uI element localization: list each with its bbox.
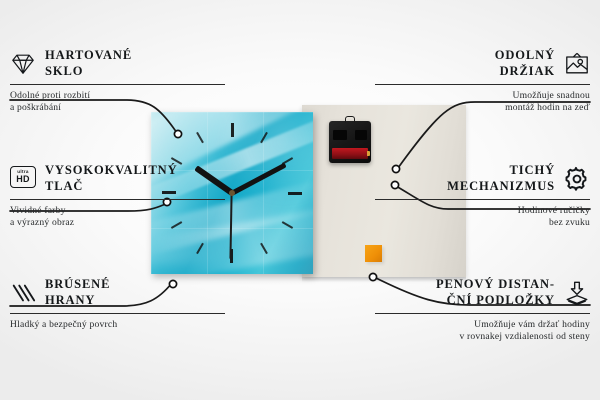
feature-title-brusene-hrany: BRÚSENÉHRANY [45,277,110,309]
feature-desc-hartovane-sklo: Odolné proti rozbitía poškrábání [10,90,225,116]
diamond-icon [10,51,36,77]
mechanism-slot-right [355,130,367,140]
feature-divider-brusene-hrany [10,313,225,314]
picture-hanger-icon [564,51,590,77]
feature-hartovane-sklo: HARTOVANÉSKLO Odolné proti rozbitía pošk… [10,48,225,115]
feature-divider-vysokokvalitny-tlac [10,199,225,200]
clock-tick-3 [232,192,302,194]
feature-heading-tichy-mechanizmus: TICHÝMECHANIZMUS [375,163,590,195]
feature-heading-hartovane-sklo: HARTOVANÉSKLO [10,48,225,80]
feature-desc-vysokokvalitny-tlac: Vividné farbya výrazný obraz [10,205,225,231]
feature-title-hartovane-sklo: HARTOVANÉSKLO [45,48,132,80]
feature-divider-tichy-mechanizmus [375,199,590,200]
feature-odolny-drziak: ODOLNÝDRŽIAK Umožňuje snadnoumontáž hodi… [375,48,590,115]
feature-title-vysokokvalitny-tlac: VYSOKOKVALITNÝTLAČ [45,163,178,195]
feature-desc-odolny-drziak: Umožňuje snadnoumontáž hodin na zeď [375,90,590,116]
clock-center-cap [229,190,235,196]
feature-divider-hartovane-sklo [10,84,225,85]
feature-title-odolny-drziak: ODOLNÝDRŽIAK [495,48,555,80]
mechanism-slot-left [333,130,347,140]
feature-heading-penove-podlozky: PENOVÝ DISTAN-ČNÍ PODLOŽKY [375,277,590,309]
feature-tichy-mechanizmus: TICHÝMECHANIZMUS Hodinové ručičkybez zvu… [375,163,590,230]
ultra-hd-icon-hd-text: HD [16,175,29,184]
feature-desc-brusene-hrany: Hladký a bezpečný povrch [10,319,225,332]
mechanism-hanger-shaft [345,116,355,123]
foam-spacer-pad [365,245,382,262]
spacer-stack-icon [564,280,590,306]
aa-battery [332,148,368,159]
infographic-canvas: HARTOVANÉSKLO Odolné proti rozbitía pošk… [0,0,600,400]
feature-heading-odolny-drziak: ODOLNÝDRŽIAK [375,48,590,80]
ultra-hd-icon: ultra HD [10,166,36,192]
clock-tick-12 [231,123,233,193]
feature-title-tichy-mechanizmus: TICHÝMECHANIZMUS [447,163,555,195]
clock-mechanism-module [329,121,371,163]
feature-heading-vysokokvalitny-tlac: ultra HD VYSOKOKVALITNÝTLAČ [10,163,225,195]
gear-icon [564,166,590,192]
feature-penove-distancne-podlozky: PENOVÝ DISTAN-ČNÍ PODLOŽKY Umožňuje vám … [375,277,590,344]
feature-desc-tichy-mechanizmus: Hodinové ručičkybez zvuku [375,205,590,231]
feature-brusene-hrany: BRÚSENÉHRANY Hladký a bezpečný povrch [10,277,225,331]
feature-title-penove-podlozky: PENOVÝ DISTAN-ČNÍ PODLOŽKY [436,277,555,309]
beveled-edge-icon [10,280,36,306]
feature-divider-penove-podlozky [375,313,590,314]
feature-heading-brusene-hrany: BRÚSENÉHRANY [10,277,225,309]
feature-divider-odolny-drziak [375,84,590,85]
feature-vysokokvalitny-tlac: ultra HD VYSOKOKVALITNÝTLAČ Vividné farb… [10,163,225,230]
feature-desc-penove-podlozky: Umožňuje vám držať hodinyv rovnakej vzdi… [375,319,590,345]
